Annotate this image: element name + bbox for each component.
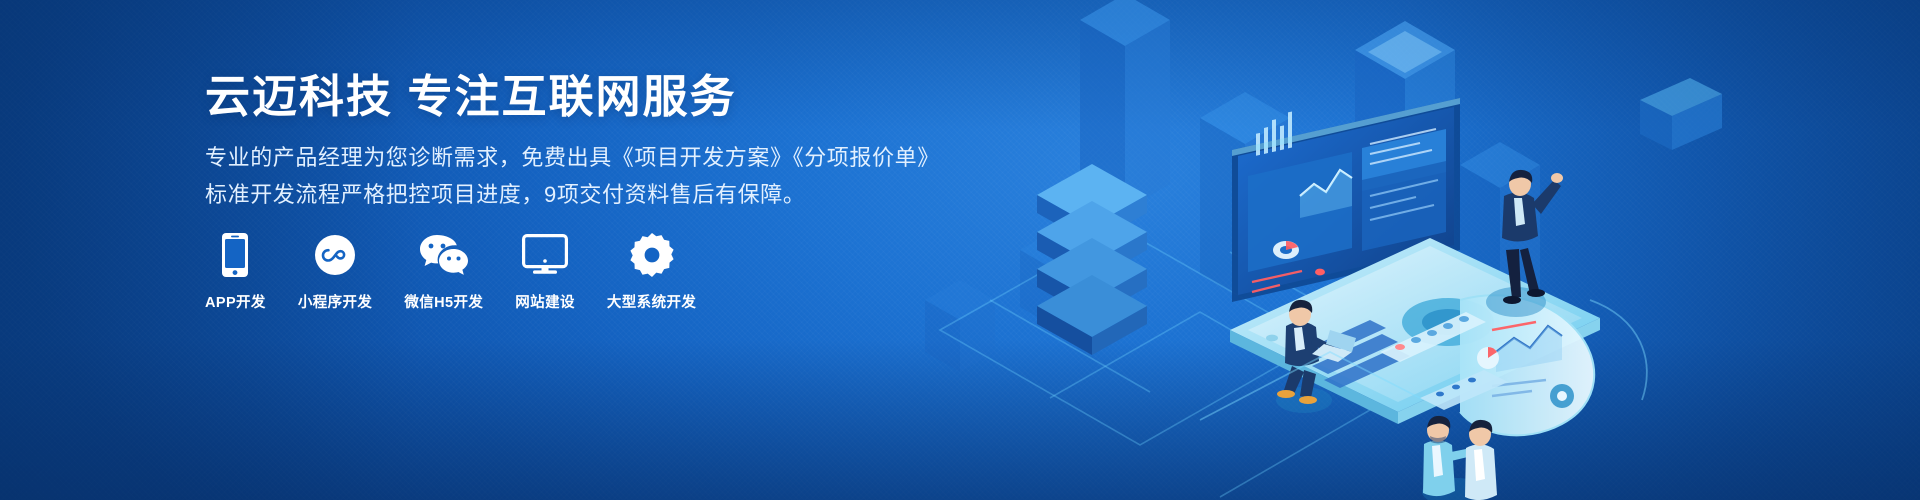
- service-label: 小程序开发: [298, 291, 373, 312]
- subtitle-line-2: 标准开发流程严格把控项目进度，9项交付资料售后有保障。: [205, 178, 905, 213]
- wechat-icon: [418, 232, 470, 278]
- floating-card: [1640, 78, 1722, 150]
- isometric-tech-illustration: [900, 0, 1920, 500]
- page-title: 云迈科技 专注互联网服务: [205, 70, 905, 123]
- service-list: APP开发 小程序开发 微信: [205, 232, 696, 312]
- service-item-app[interactable]: APP开发: [205, 232, 266, 312]
- service-item-large-system[interactable]: 大型系统开发: [607, 232, 696, 312]
- mobile-phone-icon: [220, 232, 250, 278]
- promo-banner: 云迈科技 专注互联网服务 专业的产品经理为您诊断需求，免费出具《项目开发方案》《…: [0, 0, 1920, 500]
- service-label: 网站建设: [515, 291, 575, 312]
- banner-copy: 云迈科技 专注互联网服务 专业的产品经理为您诊断需求，免费出具《项目开发方案》《…: [205, 70, 905, 213]
- service-label: 大型系统开发: [607, 291, 696, 312]
- gear-icon: [630, 232, 674, 278]
- two-people-pointing: [1422, 416, 1497, 500]
- service-item-mini-program[interactable]: 小程序开发: [298, 232, 373, 312]
- service-item-website[interactable]: 网站建设: [515, 232, 575, 312]
- mini-program-icon: [314, 232, 356, 278]
- service-label: 微信H5开发: [404, 291, 483, 312]
- monitor-icon: [522, 232, 568, 278]
- service-item-wechat-h5[interactable]: 微信H5开发: [404, 232, 483, 312]
- subtitle-line-1: 专业的产品经理为您诊断需求，免费出具《项目开发方案》《分项报价单》: [205, 141, 905, 176]
- service-label: APP开发: [205, 291, 266, 312]
